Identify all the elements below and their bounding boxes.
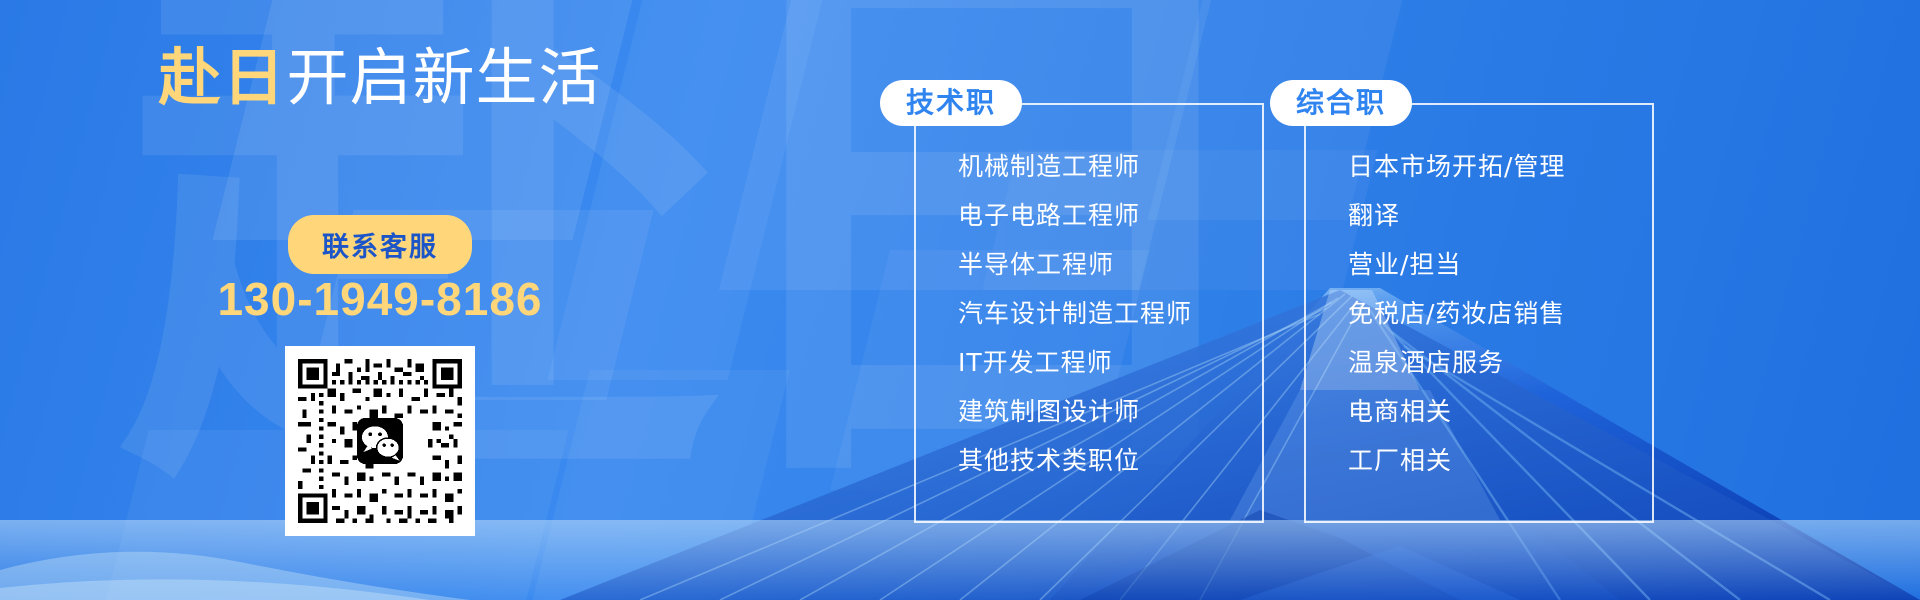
cta-container: 联系客服: [0, 215, 760, 274]
list-item[interactable]: 营业/担当: [1348, 252, 1565, 277]
technical-job-list: 机械制造工程师 电子电路工程师 半导体工程师 汽车设计制造工程师 IT开发工程师…: [958, 154, 1192, 473]
phone-number[interactable]: 130-1949-8186: [0, 272, 760, 326]
recruitment-banner: 赴日: [0, 0, 1920, 600]
list-item[interactable]: 机械制造工程师: [958, 154, 1192, 179]
list-item[interactable]: 电子电路工程师: [958, 203, 1192, 228]
list-item[interactable]: 日本市场开拓/管理: [1348, 154, 1565, 179]
general-job-list: 日本市场开拓/管理 翻译 营业/担当 免税店/药妆店销售 温泉酒店服务 电商相关…: [1348, 154, 1565, 473]
list-item[interactable]: 其他技术类职位: [958, 448, 1192, 473]
headline-rest: 开启新生活: [287, 41, 602, 114]
list-item[interactable]: 免税店/药妆店销售: [1348, 301, 1565, 326]
list-item[interactable]: 半导体工程师: [958, 252, 1192, 277]
left-content: 赴日开启新生活 联系客服 130-1949-8186: [0, 0, 760, 600]
list-item[interactable]: IT开发工程师: [958, 350, 1192, 375]
page-title: 赴日开启新生活: [0, 44, 760, 112]
list-item[interactable]: 电商相关: [1348, 399, 1565, 424]
list-item[interactable]: 汽车设计制造工程师: [958, 301, 1192, 326]
badge-general-jobs: 综合职: [1270, 80, 1412, 126]
badge-technical-jobs: 技术职: [880, 80, 1022, 126]
list-item[interactable]: 工厂相关: [1348, 448, 1565, 473]
qr-code-container[interactable]: [285, 346, 475, 536]
list-item[interactable]: 建筑制图设计师: [958, 399, 1192, 424]
list-item[interactable]: 翻译: [1348, 203, 1565, 228]
contact-support-button[interactable]: 联系客服: [288, 215, 472, 274]
headline-accent: 赴日: [158, 41, 286, 114]
wechat-qr-code-icon[interactable]: [294, 355, 466, 527]
list-item[interactable]: 温泉酒店服务: [1348, 350, 1565, 375]
